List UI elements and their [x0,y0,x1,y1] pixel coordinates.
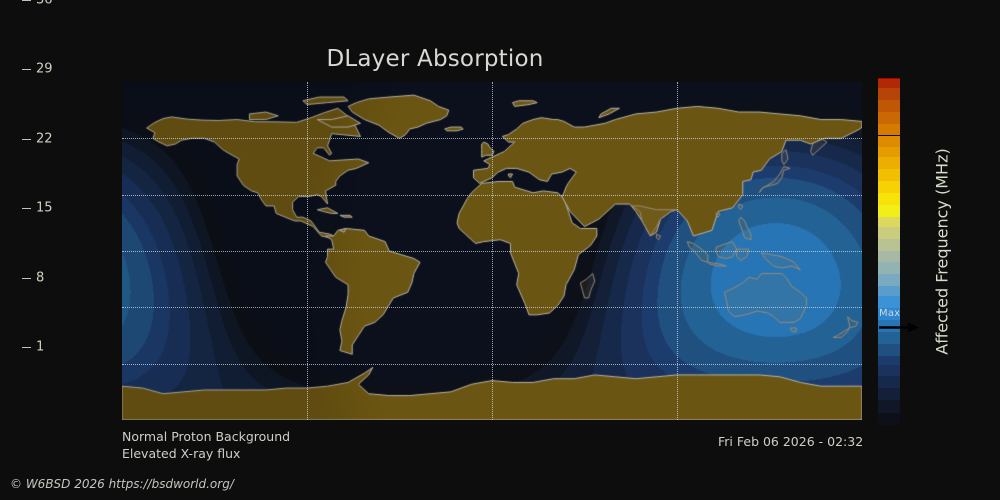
colorbar-ticks: 3629221581 [22,0,82,347]
colorbar-max-label: Max [879,308,900,319]
status-annotations: Normal Proton Background Elevated X-ray … [122,428,290,462]
colorbar[interactable]: Max [878,78,900,425]
proton-status: Normal Proton Background [122,428,290,445]
colorbar-axis-title: Affected Frequency (MHz) [930,78,954,425]
absorption-map[interactable] [122,82,862,420]
colorbar-tick [22,278,31,279]
colorbar-tick [22,139,31,140]
copyright-notice: © W6BSD 2026 https://bsdworld.org/ [10,477,234,491]
timestamp: Fri Feb 06 2026 - 02:32 [718,434,863,449]
colorbar-tick-label: 8 [36,270,44,285]
colorbar-tick-label: 15 [36,201,53,216]
colorbar-tick-label: 29 [36,62,53,77]
colorbar-max-marker: Max [878,308,924,334]
colorbar-tick-label: 36 [36,0,53,8]
xray-status: Elevated X-ray flux [122,445,290,462]
page-title: DLayer Absorption [0,46,870,72]
arrow-right-icon [879,322,919,333]
absorption-map-canvas [122,82,862,420]
colorbar-tick [22,208,31,209]
colorbar-tick [22,69,31,70]
colorbar-axis-title-text: Affected Frequency (MHz) [933,148,952,354]
colorbar-tick-label: 1 [36,340,44,355]
colorbar-tick-label: 22 [36,131,53,146]
colorbar-tick [22,0,31,1]
colorbar-tick [22,347,31,348]
colorbar-gradient [878,78,900,425]
